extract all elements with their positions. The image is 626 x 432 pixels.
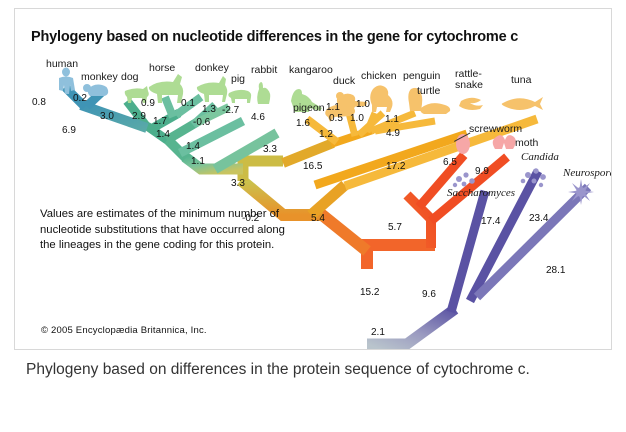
pig-icon <box>228 90 251 103</box>
branch-neurospora <box>477 187 588 297</box>
taxon-label-moth: moth <box>515 137 538 149</box>
taxon-label-pig: pig <box>231 73 245 85</box>
branch-value-insect-stem: 5.7 <box>388 222 402 233</box>
branch-vertebrate-root <box>321 214 367 251</box>
taxon-label-human: human <box>46 58 78 70</box>
taxon-label-horse: horse <box>149 62 175 74</box>
taxon-label-rabbit: rabbit <box>251 64 277 76</box>
branch-value-amniote: 3.3 <box>263 144 277 155</box>
branch-value-monkey: 0.2 <box>73 93 87 104</box>
branch-value-penguin: 1.1 <box>385 114 399 125</box>
tuna-icon <box>502 97 543 110</box>
rattlesnake-icon <box>459 98 483 110</box>
phylogenetic-tree-svg <box>15 9 612 350</box>
branch-value-dog: 3.0 <box>100 111 114 122</box>
branch-value-bird-node: 1.2 <box>319 129 333 140</box>
branch-value-duck: 1.1 <box>326 102 340 113</box>
branch-value-primate-stem: 6.9 <box>62 125 76 136</box>
branch-value-moth: 9.9 <box>475 166 489 177</box>
taxon-label-screwworm: screwworm <box>469 123 522 135</box>
taxon-label-duck: duck <box>333 75 355 87</box>
branch-horse <box>165 97 173 117</box>
taxon-label-rattlesnake: rattle-snake <box>455 69 491 91</box>
branch-value-rattlesnake: 16.5 <box>303 161 322 172</box>
rabbit-icon <box>257 82 270 104</box>
branch-value-horse: 0.9 <box>141 98 155 109</box>
branch-value-human: 0.8 <box>32 97 46 108</box>
branch-value-pigeon: 1.6 <box>296 118 310 129</box>
branch-value-kangaroo: 4.6 <box>251 112 265 123</box>
branch-vertebrate-fan <box>311 185 345 215</box>
taxon-label-tuna: tuna <box>511 74 531 86</box>
branch-value-candida: 23.4 <box>529 213 548 224</box>
figure-caption: Phylogeny based on differences in the pr… <box>26 358 546 382</box>
branch-value-vertebrate-root: 5.4 <box>311 213 325 224</box>
branch-value-horse-donkey: 2.9 <box>132 111 146 122</box>
branch-animal-node <box>367 245 435 269</box>
branch-value-turtle: 4.9 <box>386 128 400 139</box>
taxon-label-neurospora: Neurospora <box>563 167 612 179</box>
branch-value-vertebrate-node: 3.3 <box>231 178 245 189</box>
branch-value-artiodactyl: 1.7 <box>153 116 167 127</box>
branch-value-fungi-trunk: 9.6 <box>422 289 436 300</box>
branch-value-mammal-node1: 1.4 <box>156 129 170 140</box>
copyright-notice: © 2005 Encyclopædia Britannica, Inc. <box>41 325 207 336</box>
taxon-label-pigeon: pigeon <box>293 102 325 114</box>
branch-value-animal-trunk: 15.2 <box>360 287 379 298</box>
moth-icon <box>493 135 516 149</box>
taxon-label-dog: dog <box>121 71 139 83</box>
explanatory-note: Values are estimates of the minimum numb… <box>40 207 290 254</box>
branch-value-mammal-node2: 1.4 <box>186 141 200 152</box>
branch-value-mammal-stem: 1.1 <box>191 156 205 167</box>
branch-value-screwworm: 6.5 <box>443 157 457 168</box>
branch-value-neurospora: 28.1 <box>546 265 565 276</box>
taxon-label-turtle: turtle <box>417 85 440 97</box>
taxon-label-monkey: monkey <box>81 71 118 83</box>
chicken-icon <box>370 85 392 112</box>
branch-value-duck-node: 0.5 <box>329 113 343 124</box>
human-icon <box>59 68 75 95</box>
figure-page: Phylogeny based on nucleotide difference… <box>0 0 626 432</box>
branch-value-pig-node: -0.6 <box>193 117 210 128</box>
branch-amniote-node <box>243 161 283 181</box>
branch-value-saccharomyces: 17.4 <box>481 216 500 227</box>
taxon-label-donkey: donkey <box>195 62 229 74</box>
taxon-label-penguin: penguin <box>403 70 440 82</box>
branch-bird-stem <box>283 143 333 163</box>
taxon-label-candida: Candida <box>521 151 559 163</box>
branch-value-pig: 1.3 <box>202 104 216 115</box>
taxon-label-saccharomyces: Saccharomyces <box>447 187 515 199</box>
branch-value-rabbit: -2.7 <box>222 105 239 116</box>
turtle-icon <box>420 103 450 114</box>
taxon-label-chicken: chicken <box>361 70 397 82</box>
branch-value-donkey: 0.1 <box>181 98 195 109</box>
phylogeny-figure: Phylogeny based on nucleotide difference… <box>14 8 612 350</box>
branch-value-tuna: 17.2 <box>386 161 405 172</box>
taxon-label-kangaroo: kangaroo <box>289 64 333 76</box>
branch-value-root: 2.1 <box>371 327 385 338</box>
branch-value-chicken-b: 1.0 <box>350 113 364 124</box>
branch-value-chicken-a: 1.0 <box>356 99 370 110</box>
